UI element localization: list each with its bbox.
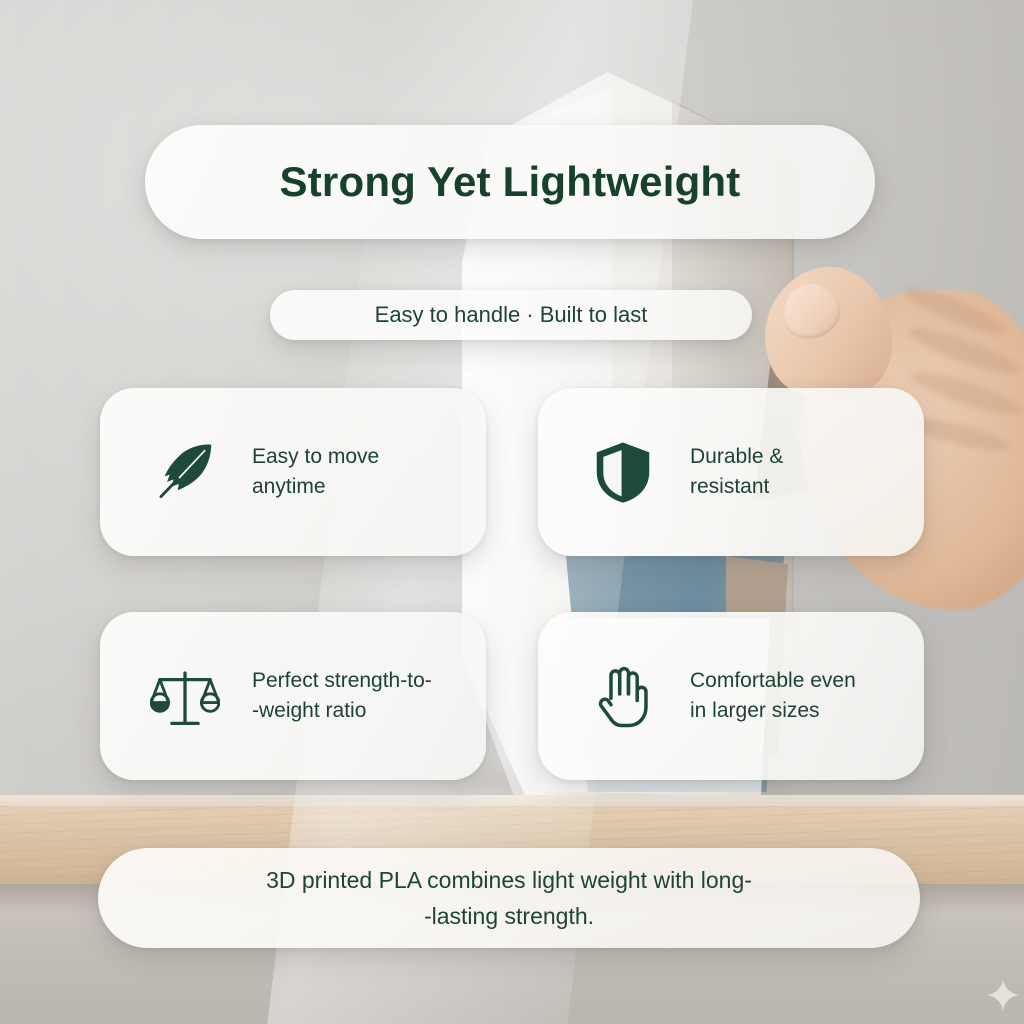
info-overlay: Strong Yet Lightweight Easy to handle · …: [0, 0, 1024, 1024]
feature-card-easy-to-move[interactable]: Easy to move anytime: [100, 388, 486, 556]
footer-banner: 3D printed PLA combines light weight wit…: [98, 848, 920, 948]
open-hand-icon: [586, 659, 660, 733]
feature-line-1: Comfortable even: [690, 669, 856, 692]
feature-card-label: Easy to move anytime: [252, 442, 379, 503]
shield-icon: [586, 435, 660, 509]
subtitle-banner: Easy to handle · Built to last: [270, 290, 752, 340]
balance-scale-icon: [148, 659, 222, 733]
feature-card-strength-to-weight[interactable]: Perfect strength-to- -weight ratio: [100, 612, 486, 780]
feature-line-2: resistant: [690, 475, 769, 498]
footer-line-2: -lasting strength.: [424, 899, 594, 934]
feature-line-1: Perfect strength-to-: [252, 669, 432, 692]
feature-card-comfortable[interactable]: Comfortable even in larger sizes: [538, 612, 924, 780]
feature-line-2: in larger sizes: [690, 699, 820, 722]
footer-line-1: 3D printed PLA combines light weight wit…: [266, 863, 752, 898]
feature-line-1: Easy to move: [252, 445, 379, 468]
feather-icon: [148, 435, 222, 509]
page-title: Strong Yet Lightweight: [280, 158, 741, 206]
feature-card-label: Perfect strength-to- -weight ratio: [252, 666, 432, 727]
feature-card-durable[interactable]: Durable & resistant: [538, 388, 924, 556]
title-banner: Strong Yet Lightweight: [145, 125, 875, 239]
feature-line-1: Durable &: [690, 445, 783, 468]
feature-card-label: Comfortable even in larger sizes: [690, 666, 856, 727]
feature-card-label: Durable & resistant: [690, 442, 783, 503]
page-subtitle: Easy to handle · Built to last: [375, 302, 648, 328]
feature-line-2: -weight ratio: [252, 699, 366, 722]
sparkle-icon: [986, 978, 1020, 1012]
feature-line-2: anytime: [252, 475, 326, 498]
